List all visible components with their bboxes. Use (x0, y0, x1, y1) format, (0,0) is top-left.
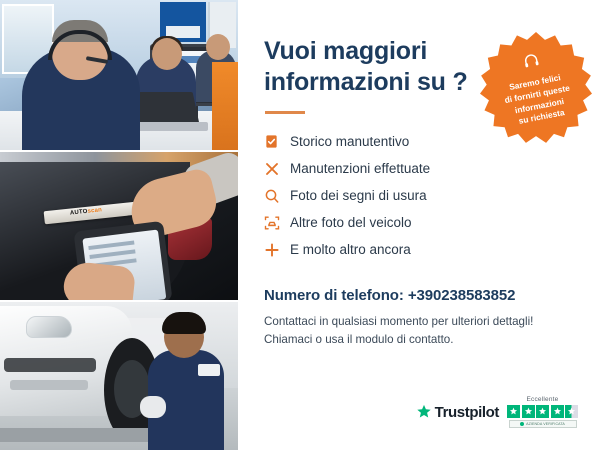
verified-badge: AZIENDA VERIFICATA (509, 420, 577, 428)
star-3 (536, 405, 549, 418)
plus-icon (264, 242, 290, 258)
mechanic-tire-check-photo (0, 300, 238, 450)
list-item: Foto dei segni di usura (264, 182, 576, 209)
rating-label: Eccellente (527, 396, 559, 403)
mechanic-hair (162, 312, 206, 334)
car-lift-platform (0, 428, 150, 442)
mechanic-glove (140, 396, 166, 418)
page-title: Vuoi maggiori informazioni su ? (264, 36, 469, 97)
list-item-label: Manutenzioni effettuate (290, 161, 430, 176)
contact-note-line-1: Contattaci in qualsiasi momento per ulte… (264, 313, 576, 331)
car-scan-icon (264, 215, 290, 231)
list-item: Manutenzioni effettuate (264, 155, 576, 182)
star-rating (507, 405, 578, 418)
star-4 (551, 405, 564, 418)
callout-badge: Saremo felici di fornirti queste informa… (480, 32, 592, 144)
feature-list: Storico manutentivo Manutenzioni effettu… (264, 128, 576, 263)
orange-foreground-object (212, 62, 238, 150)
trustpilot-star-icon (416, 404, 432, 420)
car-inspection-ruler-photo: AUTOscan (0, 150, 238, 300)
list-item-label: Foto dei segni di usura (290, 188, 427, 203)
car-grille (4, 358, 96, 372)
photo-collage: AUTOscan (0, 0, 238, 450)
person-head-2 (152, 38, 182, 70)
checklist-icon (264, 134, 290, 149)
contact-note-line-2: Chiamaci o usa il modulo di contatto. (264, 331, 576, 349)
star-1 (507, 405, 520, 418)
list-item-label: E molto altro ancora (290, 242, 411, 257)
headset-icon (521, 51, 542, 76)
list-item-label: Storico manutentivo (290, 134, 409, 149)
contact-note: Contattaci in qualsiasi momento per ulte… (264, 313, 576, 349)
trustpilot-logo: Trustpilot (416, 404, 499, 421)
tools-icon (264, 161, 290, 177)
star-5-half (565, 405, 578, 418)
content-panel: Vuoi maggiori informazioni su ? Storico … (238, 0, 600, 450)
trustpilot-wordmark: Trustpilot (435, 404, 499, 421)
uniform-badge (198, 364, 220, 376)
list-item-label: Altre foto del veicolo (290, 215, 412, 230)
trustpilot-widget[interactable]: Trustpilot Eccellente AZIENDA VERIFICATA (416, 396, 578, 428)
list-item: Altre foto del veicolo (264, 209, 576, 236)
title-divider (265, 111, 305, 114)
magnifier-icon (264, 188, 290, 204)
car-headlight (26, 316, 72, 338)
promo-banner: AUTOscan Vuoi maggiori informazioni su ? (0, 0, 600, 450)
phone-number[interactable]: Numero di telefono: +390238583852 (264, 287, 576, 304)
contact-block: Numero di telefono: +390238583852 Contat… (264, 287, 576, 349)
car-lower-trim (10, 380, 88, 390)
star-2 (522, 405, 535, 418)
list-item: E molto altro ancora (264, 236, 576, 263)
verified-check-icon (520, 422, 524, 426)
trustpilot-rating: Eccellente AZIENDA VERIFICATA (507, 396, 578, 428)
call-center-agents-photo (0, 0, 238, 150)
verified-label: AZIENDA VERIFICATA (526, 422, 565, 426)
person-head-3 (206, 34, 230, 60)
